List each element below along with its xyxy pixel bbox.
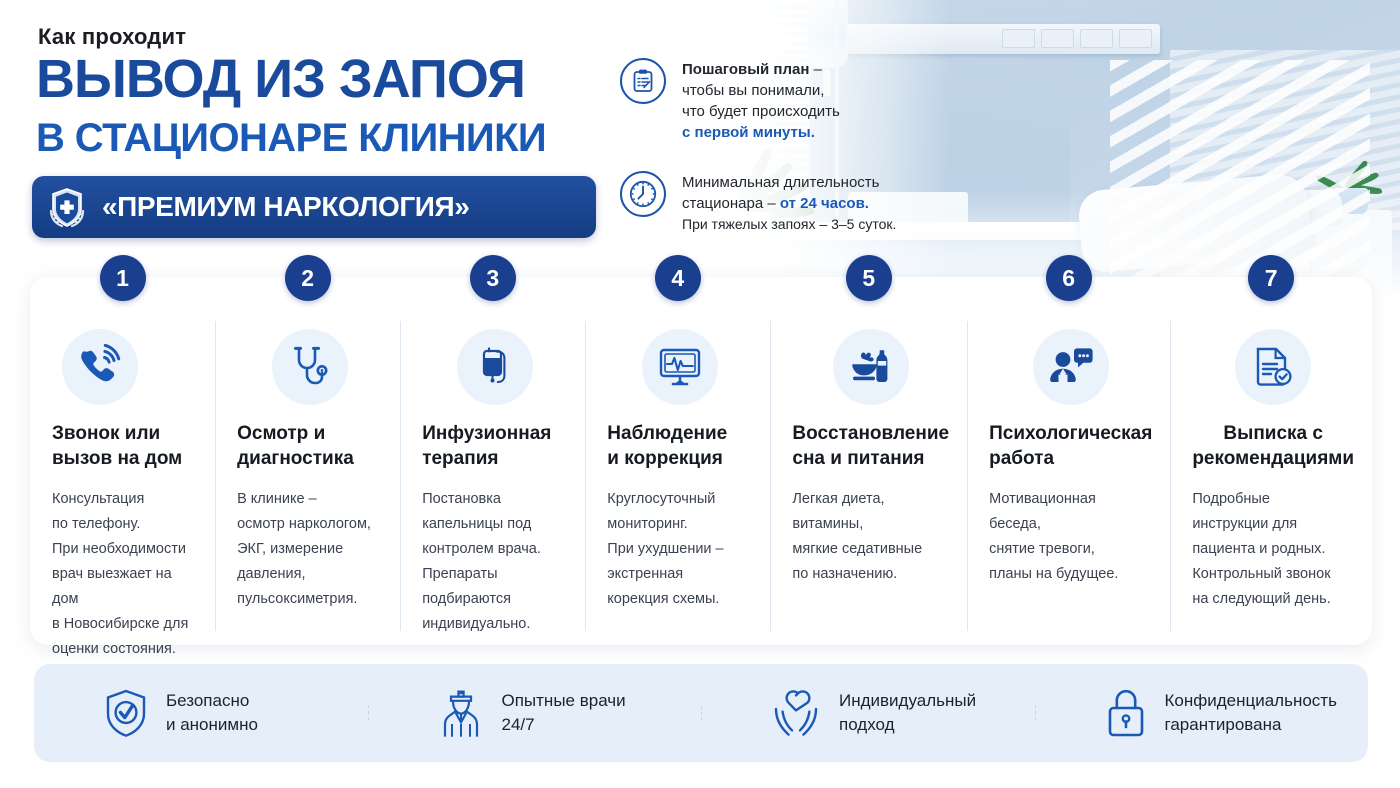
step-5-sleep-nutrition[interactable]: 5 Восстановлениесна и питания Легкая дие… [770, 277, 967, 645]
note-text: Минимальная длительность стационара – от… [682, 171, 896, 235]
step-title: Осмотр идиагностика [237, 421, 382, 471]
step-number-badge: 2 [285, 255, 331, 301]
clock-icon [620, 171, 666, 217]
steps-list: 1 Звонок иливызов на дом Консультацияпо … [30, 277, 1372, 645]
step-description: Мотивационнаябеседа,снятие тревоги,планы… [989, 487, 1152, 587]
stethoscope-icon [272, 329, 348, 405]
trust-item-individual-approach: Индивидуальныйподход [701, 688, 1035, 738]
step-7-discharge[interactable]: 7 Выписка срекомендациями Подробныеинстр… [1170, 277, 1372, 645]
trust-label: Индивидуальныйподход [839, 689, 976, 737]
doctor-nurse-icon [438, 687, 484, 739]
shield-check-icon [104, 688, 148, 738]
step-6-psychological-work[interactable]: 6 Психологическаяработа Мотивационнаябес… [967, 277, 1170, 645]
step-number-badge: 7 [1248, 255, 1294, 301]
step-title: Звонок иливызов на дом [52, 421, 197, 471]
trust-label: Конфиденциальностьгарантирована [1165, 689, 1337, 737]
lock-icon [1105, 687, 1147, 739]
note-line2-highlight: от 24 часов. [780, 195, 869, 212]
trust-label: Опытные врачи24/7 [502, 689, 626, 737]
trust-item-safe-anonymous: Безопаснои анонимно [34, 688, 368, 738]
note-line2-plain: стационара – [682, 195, 780, 212]
step-1-call[interactable]: 1 Звонок иливызов на дом Консультацияпо … [30, 277, 215, 645]
person-speech-bubble-icon [1033, 329, 1109, 405]
trust-item-confidentiality: Конфиденциальностьгарантирована [1035, 687, 1369, 739]
step-2-examination[interactable]: 2 Осмотр идиагностика В клинике –осмотр … [215, 277, 400, 645]
step-title: Наблюдениеи коррекция [607, 421, 752, 471]
note-text: Пошаговый план – чтобы вы понимали, что … [682, 58, 840, 143]
trust-bar: Безопаснои анонимно Опытные врачи24/7 [34, 664, 1368, 762]
step-number-badge: 1 [100, 255, 146, 301]
note-line3: что будет происходить [682, 103, 840, 120]
kicker-text: Как проходит [38, 24, 186, 50]
iv-drip-bag-icon [457, 329, 533, 405]
page-title: ВЫВОД ИЗ ЗАПОЯ [36, 52, 525, 106]
brand-badge-label: «ПРЕМИУМ НАРКОЛОГИЯ» [102, 191, 469, 223]
step-title: Инфузионнаятерапия [422, 421, 567, 471]
shield-cross-laurel-icon [32, 183, 102, 231]
step-description: Легкая диета,витамины,мягкие седативныеп… [792, 487, 949, 587]
trust-item-experienced-doctors: Опытные врачи24/7 [368, 687, 702, 739]
ecg-monitor-icon [642, 329, 718, 405]
rail-sockets [1002, 29, 1152, 48]
step-description: Круглосуточныймониторинг.При ухудшении –… [607, 487, 752, 612]
step-4-monitoring[interactable]: 4 Наблюдениеи коррекция Круглосуточныймо… [585, 277, 770, 645]
step-number-badge: 3 [470, 255, 516, 301]
phone-call-icon [62, 329, 138, 405]
header-notes: Пошаговый план – чтобы вы понимали, что … [620, 58, 920, 263]
step-description: В клинике –осмотр наркологом,ЭКГ, измере… [237, 487, 382, 612]
clipboard-checklist-icon [620, 58, 666, 104]
note-line3-small: При тяжелых запоях – 3–5 суток. [682, 216, 896, 232]
note-stepwise-plan: Пошаговый план – чтобы вы понимали, что … [620, 58, 920, 143]
note-line1: Минимальная длительность [682, 174, 879, 191]
step-title: Выписка срекомендациями [1192, 421, 1354, 471]
page-subtitle: В СТАЦИОНАРЕ КЛИНИКИ [36, 118, 546, 158]
heart-in-hands-icon [771, 688, 821, 738]
header: Как проходит ВЫВОД ИЗ ЗАПОЯ В СТАЦИОНАРЕ… [0, 0, 640, 270]
trust-label: Безопаснои анонимно [166, 689, 258, 737]
step-number-badge: 5 [846, 255, 892, 301]
note-line1-rest: – [809, 61, 822, 78]
food-bowl-bottle-icon [833, 329, 909, 405]
steps-card: 1 Звонок иливызов на дом Консультацияпо … [30, 277, 1372, 645]
step-title: Восстановлениесна и питания [792, 421, 949, 471]
note-line1-bold: Пошаговый план [682, 61, 809, 78]
note-line2: чтобы вы понимали, [682, 82, 824, 99]
note-line4-highlight: с первой минуты. [682, 124, 815, 141]
step-title: Психологическаяработа [989, 421, 1152, 471]
step-number-badge: 6 [1046, 255, 1092, 301]
note-minimum-duration: Минимальная длительность стационара – от… [620, 171, 920, 235]
step-description: Подробныеинструкции дляпациента и родных… [1192, 487, 1354, 612]
step-description: Консультацияпо телефону.При необходимост… [52, 487, 197, 662]
step-number-badge: 4 [655, 255, 701, 301]
step-3-infusion[interactable]: 3 Инфузионнаятерапия Постановкакапельниц… [400, 277, 585, 645]
brand-badge: «ПРЕМИУМ НАРКОЛОГИЯ» [32, 176, 596, 238]
step-description: Постановкакапельницы подконтролем врача.… [422, 487, 567, 637]
document-check-icon [1235, 329, 1311, 405]
